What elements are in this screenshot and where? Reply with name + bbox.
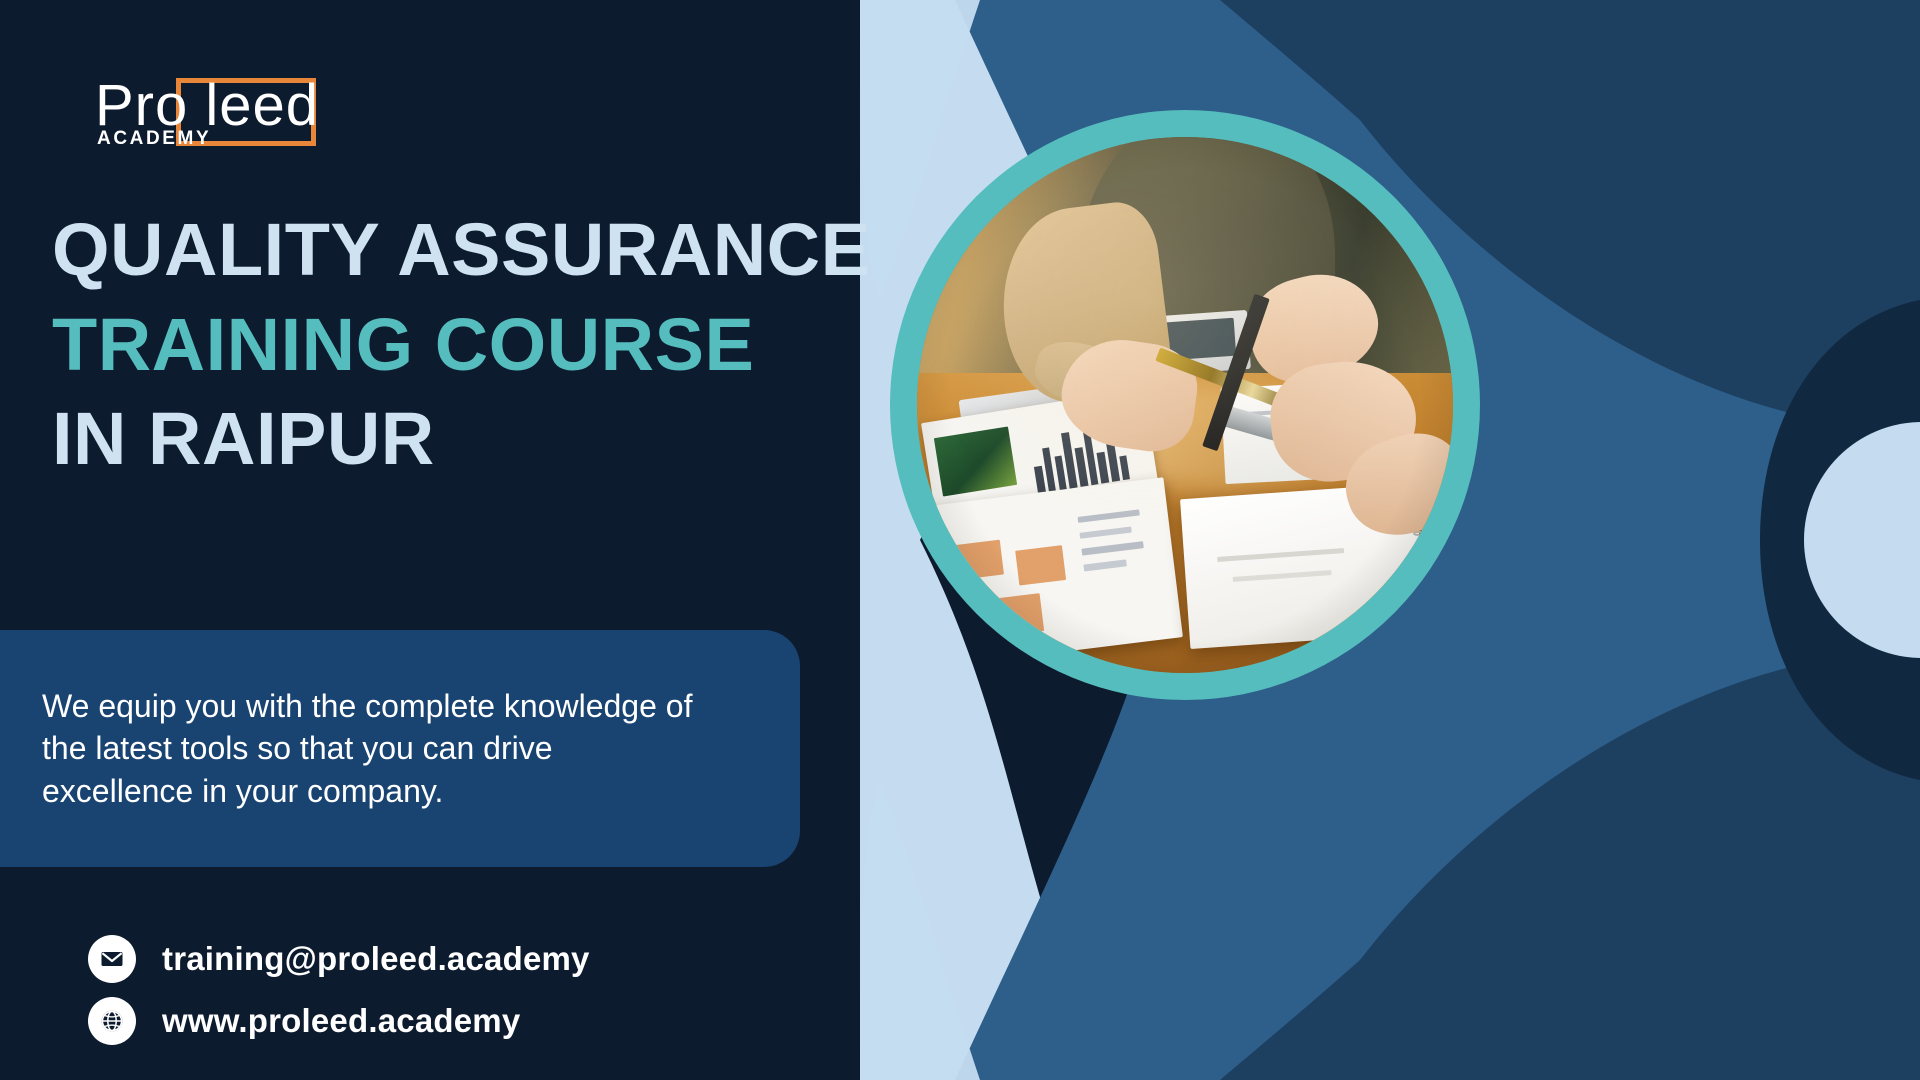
headline-line-1: QUALITY ASSURANCE xyxy=(52,203,842,298)
page-title: QUALITY ASSURANCE TRAINING COURSE IN RAI… xyxy=(52,203,842,487)
envelope-icon xyxy=(88,935,136,983)
brand-logo[interactable]: Pro leed ACADEMY xyxy=(95,62,355,152)
logo-wordmark: Pro leed xyxy=(95,77,319,135)
photo-lighting-overlay xyxy=(917,137,1453,673)
description-panel: We equip you with the complete knowledge… xyxy=(0,630,800,867)
logo-tagline: ACADEMY xyxy=(97,128,211,150)
hero-photo-ring xyxy=(890,110,1480,700)
contact-info: training@proleed.academy www.proleed.aca… xyxy=(88,928,590,1052)
hero-photo xyxy=(917,137,1453,673)
headline-line-3: IN RAIPUR xyxy=(52,392,842,487)
description-text: We equip you with the complete knowledge… xyxy=(42,685,692,812)
promotional-banner: Pro leed ACADEMY QUALITY ASSURANCE TRAIN… xyxy=(0,0,1920,1080)
globe-icon xyxy=(88,997,136,1045)
contact-email-label: training@proleed.academy xyxy=(162,940,590,978)
contact-row-email[interactable]: training@proleed.academy xyxy=(88,928,590,990)
contact-row-website[interactable]: www.proleed.academy xyxy=(88,990,590,1052)
headline-line-2: TRAINING COURSE xyxy=(52,298,842,393)
contact-website-label: www.proleed.academy xyxy=(162,1002,520,1040)
